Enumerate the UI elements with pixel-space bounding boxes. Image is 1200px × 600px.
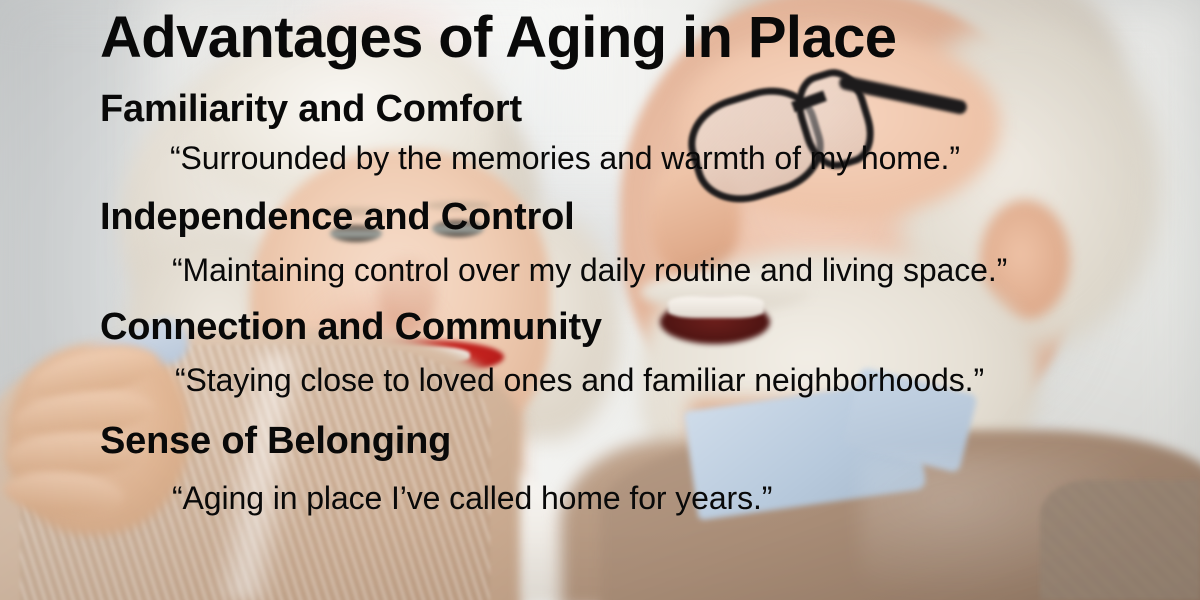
section-heading-connection-and-community: Connection and Community — [100, 306, 602, 349]
poster-canvas: Advantages of Aging in Place Familiarity… — [0, 0, 1200, 600]
section-quote-independence-and-control: “Maintaining control over my daily routi… — [172, 252, 1007, 289]
section-heading-independence-and-control: Independence and Control — [100, 196, 574, 239]
text-overlay: Advantages of Aging in Place Familiarity… — [0, 0, 1200, 600]
section-heading-familiarity-and-comfort: Familiarity and Comfort — [100, 88, 522, 131]
section-quote-familiarity-and-comfort: “Surrounded by the memories and warmth o… — [170, 140, 960, 177]
page-title: Advantages of Aging in Place — [100, 8, 896, 69]
section-heading-sense-of-belonging: Sense of Belonging — [100, 420, 451, 463]
section-quote-connection-and-community: “Staying close to loved ones and familia… — [175, 362, 984, 399]
section-quote-sense-of-belonging: “Aging in place I’ve called home for yea… — [172, 480, 772, 517]
